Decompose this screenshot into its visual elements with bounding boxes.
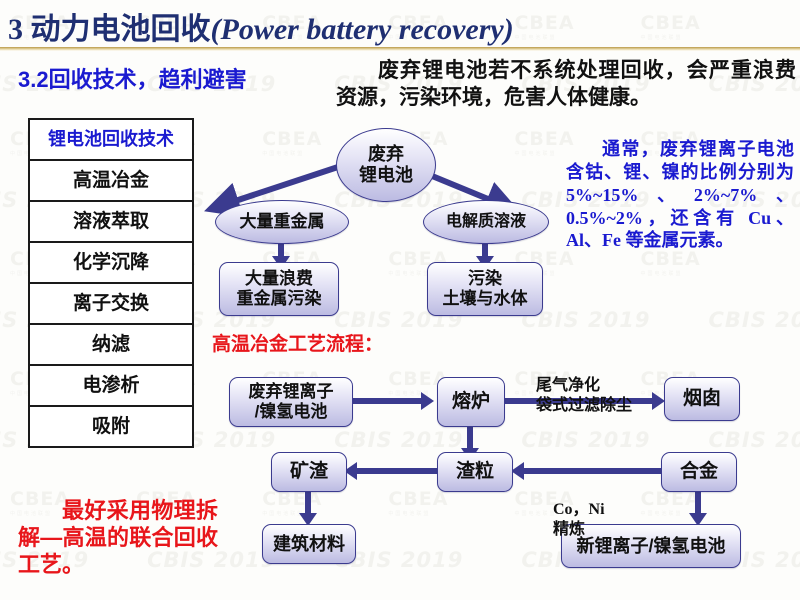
lead-paragraph: 废弃锂电池若不系统处理回收，会严重浪费资源，污染环境，危害人体健康。 xyxy=(336,58,796,112)
node-label: 污染土壤与水体 xyxy=(443,269,528,308)
edge-label-refining: Co，Ni精炼 xyxy=(553,500,619,541)
node-ore-slag: 矿渣 xyxy=(271,452,347,492)
table-row: 溶液萃取 xyxy=(30,202,192,243)
composition-note: 通常，废弃锂离子电池含钴、锂、镍的比例分别为5%~15%、2%~7%、0.5%~… xyxy=(566,138,794,252)
section-subheading: 3.2回收技术，趋利避害 xyxy=(18,62,247,94)
table-row: 纳滤 xyxy=(30,325,192,366)
node-electrolyte: 电解质溶液 xyxy=(423,200,549,244)
watermark-text: CBIS 2019 xyxy=(334,428,463,452)
page-title-cn: 3 动力电池回收 xyxy=(8,13,211,46)
edge-label-gas-cleanup: 尾气净化 袋式过滤除尘 xyxy=(536,376,632,417)
page-title-en: (Power battery recovery) xyxy=(211,13,514,46)
recycling-technique-table: 锂电池回收技术 高温冶金 溶液萃取 化学沉降 离子交换 纳滤 电渗析 吸附 xyxy=(28,118,194,448)
node-label: 渣粒 xyxy=(456,461,494,483)
node-label: 合金 xyxy=(680,461,718,483)
table-header-cell: 锂电池回收技术 xyxy=(30,120,192,161)
table-row: 化学沉降 xyxy=(30,243,192,284)
node-label: 大量重金属 xyxy=(240,212,325,232)
watermark-text: CBIS 2019 xyxy=(709,308,800,332)
watermark-text: CBEA中国电池联盟 xyxy=(641,12,701,41)
node-pollution: 污染土壤与水体 xyxy=(427,262,543,316)
table-row: 高温冶金 xyxy=(30,161,192,202)
table-row: 离子交换 xyxy=(30,284,192,325)
process-flow-title: 高温冶金工艺流程： xyxy=(212,329,383,356)
node-source-battery: 废弃锂电池 xyxy=(336,128,436,202)
arrowhead-right xyxy=(421,392,434,410)
node-alloy: 合金 xyxy=(661,452,737,492)
node-label: 大量浪费重金属污染 xyxy=(237,269,322,308)
node-waste-metal: 大量浪费重金属污染 xyxy=(219,262,339,316)
node-building-material: 建筑材料 xyxy=(262,524,356,564)
node-label: 矿渣 xyxy=(290,461,328,483)
edge-label-line: 尾气净化 xyxy=(536,376,632,396)
node-label: 建筑材料 xyxy=(273,534,345,555)
connector-feed-to-furnace xyxy=(351,398,423,404)
table-row: 吸附 xyxy=(30,407,192,448)
slide-canvas: CBEA中国电池联盟CBEA中国电池联盟CBEA中国电池联盟CBEA中国电池联盟… xyxy=(0,0,800,600)
node-label: 电解质溶液 xyxy=(446,213,526,231)
watermark-text: CBEA中国电池联盟 xyxy=(641,248,701,277)
node-furnace: 熔炉 xyxy=(437,377,505,427)
node-label: 熔炉 xyxy=(452,391,490,413)
conclusion-text: 最好采用物理拆解—高温的联合回收工艺。 xyxy=(18,498,218,578)
node-label: 烟囱 xyxy=(683,388,721,410)
watermark-text: CBIS 2019 xyxy=(521,428,650,452)
node-label: 废弃锂电池 xyxy=(359,144,413,185)
edge-label-line: 袋式过滤除尘 xyxy=(536,396,632,416)
connector-alloy-to-slag xyxy=(524,468,661,474)
connector-slag-to-oreslag xyxy=(357,468,437,474)
watermark-text: CBEA中国电池联盟 xyxy=(514,12,574,41)
node-slag-granule: 渣粒 xyxy=(437,452,513,492)
node-heavy-metal: 大量重金属 xyxy=(215,200,349,244)
node-feed-battery: 废弃锂离子/镍氢电池 xyxy=(229,377,353,427)
node-label: 废弃锂离子/镍氢电池 xyxy=(249,382,334,421)
table-row: 电渗析 xyxy=(30,366,192,407)
watermark-text: CBIS 2019 xyxy=(709,428,800,452)
watermark-text: CBEA中国电池联盟 xyxy=(388,488,448,517)
node-chimney: 烟囱 xyxy=(664,377,740,421)
page-title: 3 动力电池回收(Power battery recovery) xyxy=(8,4,514,48)
